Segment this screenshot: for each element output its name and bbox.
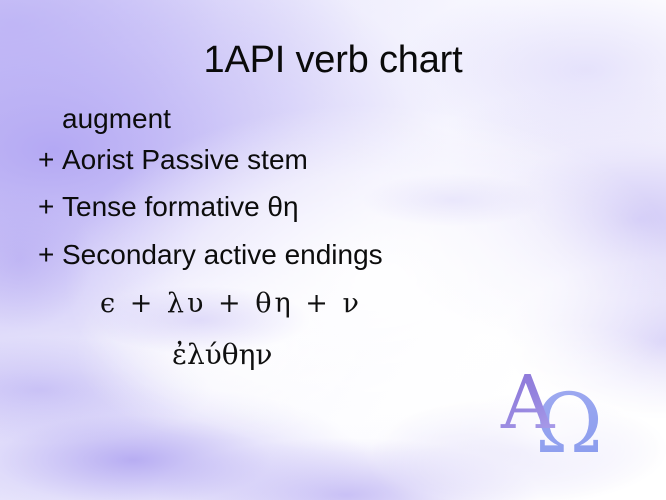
- plus-sign-icon: +: [38, 190, 62, 224]
- greek-result-word: ἐλύθην: [172, 337, 272, 373]
- alpha-omega-logo: Ω Α: [497, 360, 607, 470]
- body-line-tense-formative: +Tense formative θη: [38, 190, 299, 224]
- slide-content: 1API verb chart augment +Aorist Passive …: [0, 0, 666, 500]
- presentation-slide: 1API verb chart augment +Aorist Passive …: [0, 0, 666, 500]
- body-line-aorist-passive-stem: +Aorist Passive stem: [38, 143, 308, 177]
- alpha-glyph: Α: [500, 360, 556, 446]
- plus-sign-icon: +: [38, 238, 62, 272]
- body-line-secondary-active-endings-text: Secondary active endings: [62, 239, 383, 270]
- body-line-secondary-active-endings: +Secondary active endings: [38, 238, 383, 272]
- body-line-augment-text: augment: [62, 103, 171, 134]
- body-line-aorist-passive-stem-text: Aorist Passive stem: [62, 144, 308, 175]
- body-line-tense-formative-text: Tense formative θη: [62, 191, 299, 222]
- plus-sign-icon: +: [38, 143, 62, 177]
- body-line-augment: augment: [62, 102, 171, 136]
- page-title: 1API verb chart: [0, 38, 666, 82]
- greek-formula: ϵ + λυ + θη + ν: [100, 287, 362, 321]
